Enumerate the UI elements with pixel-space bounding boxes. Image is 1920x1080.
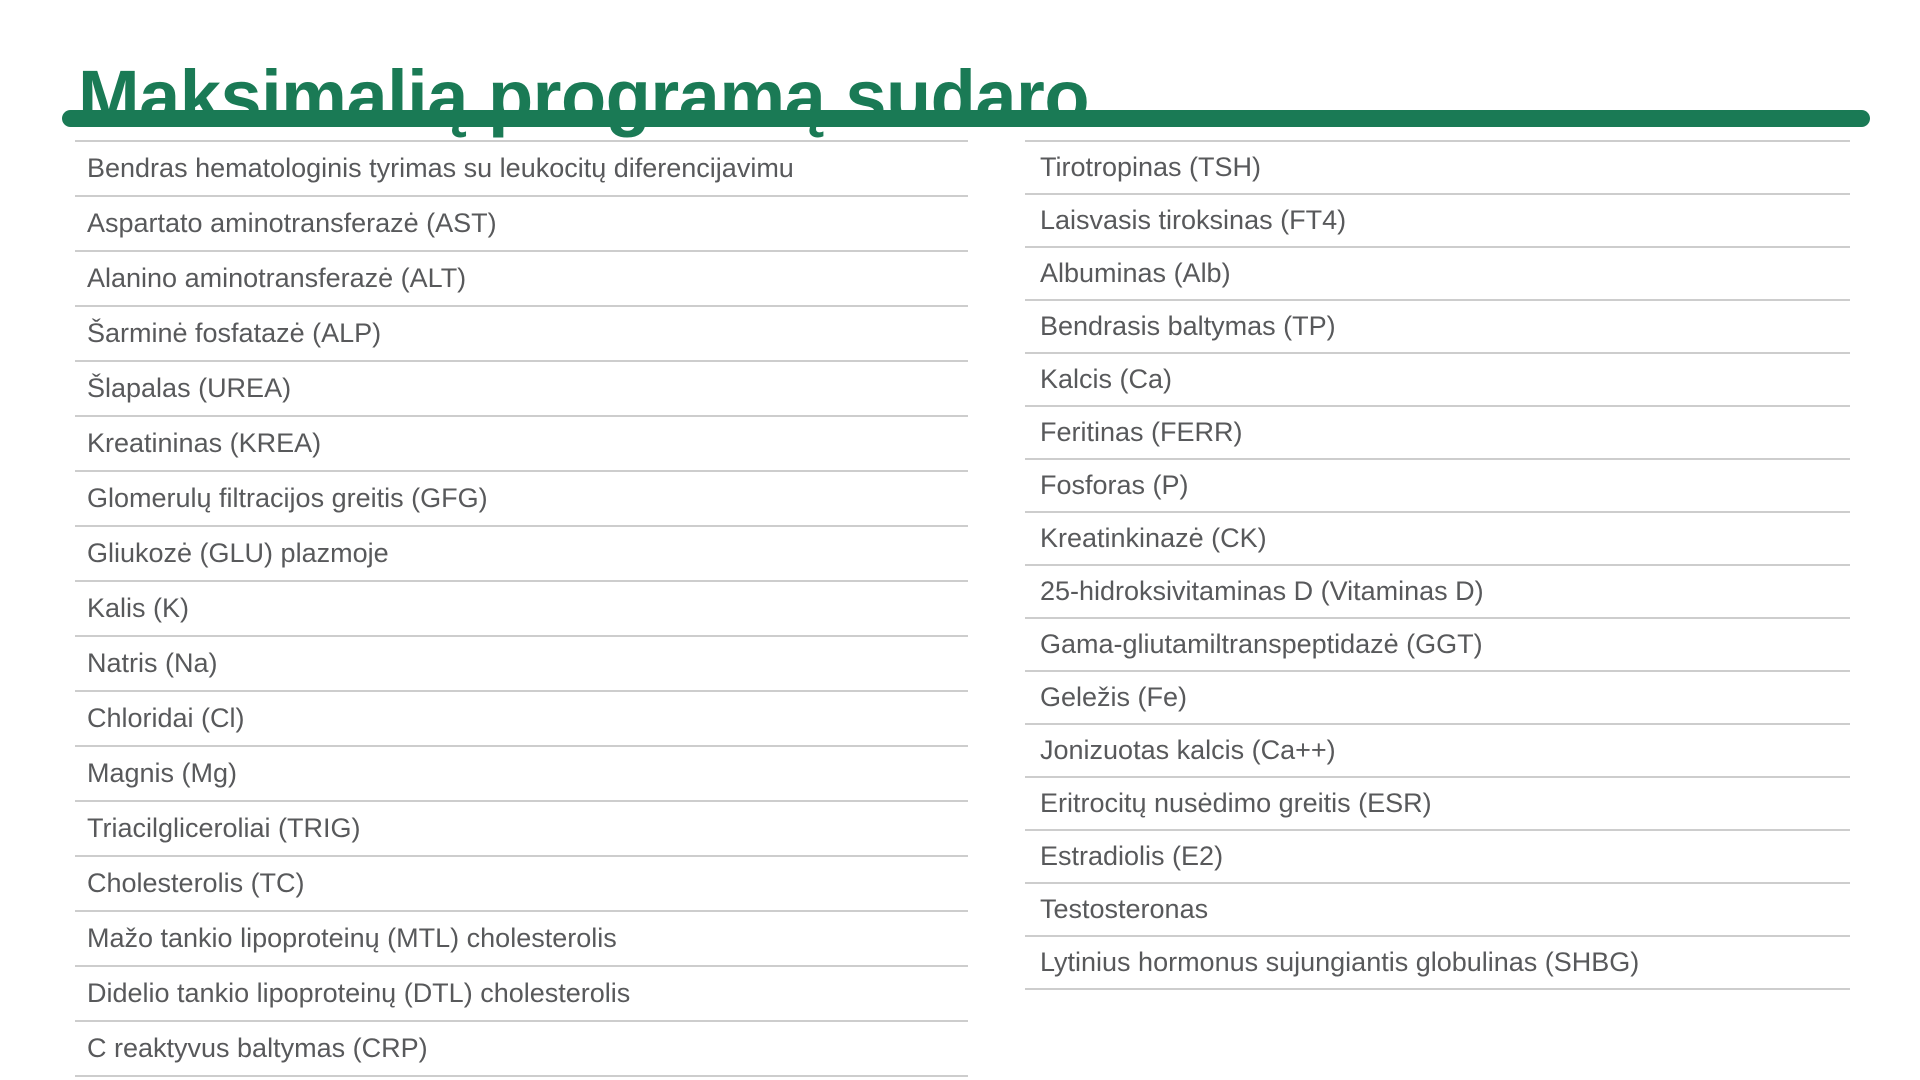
list-item: C reaktyvus baltymas (CRP) <box>75 1022 968 1077</box>
list-item: Mažo tankio lipoproteinų (MTL) cholester… <box>75 912 968 967</box>
list-item: Cholesterolis (TC) <box>75 857 968 912</box>
list-item-label: Jonizuotas kalcis (Ca++) <box>1040 735 1336 766</box>
list-item-label: Cholesterolis (TC) <box>87 868 305 899</box>
list-item: Tirotropinas (TSH) <box>1025 142 1850 195</box>
list-item-label: Chloridai (Cl) <box>87 703 245 734</box>
list-item-label: Mažo tankio lipoproteinų (MTL) cholester… <box>87 923 617 954</box>
list-item-label: Testosteronas <box>1040 894 1208 925</box>
list-item-label: Šlapalas (UREA) <box>87 373 291 404</box>
list-item: Laisvasis tiroksinas (FT4) <box>1025 195 1850 248</box>
right-column: Tirotropinas (TSH)Laisvasis tiroksinas (… <box>1025 140 1850 990</box>
list-item-label: Triacilgliceroliai (TRIG) <box>87 813 361 844</box>
title-underline-bar <box>62 110 1870 127</box>
list-item-label: Didelio tankio lipoproteinų (DTL) choles… <box>87 978 630 1009</box>
list-item-label: Tirotropinas (TSH) <box>1040 152 1261 183</box>
list-item: Kreatininas (KREA) <box>75 417 968 472</box>
list-item: Feritinas (FERR) <box>1025 407 1850 460</box>
list-item-label: Kalcis (Ca) <box>1040 364 1172 395</box>
list-item: Magnis (Mg) <box>75 747 968 802</box>
list-item-label: Eritrocitų nusėdimo greitis (ESR) <box>1040 788 1432 819</box>
list-item: Jonizuotas kalcis (Ca++) <box>1025 725 1850 778</box>
slide-root: Maksimalią programą sudaro Bendras hemat… <box>0 0 1920 1080</box>
list-item: Alanino aminotransferazė (ALT) <box>75 252 968 307</box>
list-item: Glomerulų filtracijos greitis (GFG) <box>75 472 968 527</box>
list-item-label: Fosforas (P) <box>1040 470 1189 501</box>
list-item-label: C reaktyvus baltymas (CRP) <box>87 1033 428 1064</box>
list-item: 25-hidroksivitaminas D (Vitaminas D) <box>1025 566 1850 619</box>
list-item: Didelio tankio lipoproteinų (DTL) choles… <box>75 967 968 1022</box>
list-item: Gliukozė (GLU) plazmoje <box>75 527 968 582</box>
list-item: Chloridai (Cl) <box>75 692 968 747</box>
list-item: Kalcis (Ca) <box>1025 354 1850 407</box>
list-item-label: Laisvasis tiroksinas (FT4) <box>1040 205 1346 236</box>
list-item: Šlapalas (UREA) <box>75 362 968 417</box>
list-item-label: Estradiolis (E2) <box>1040 841 1223 872</box>
list-item: Geležis (Fe) <box>1025 672 1850 725</box>
list-item-label: Geležis (Fe) <box>1040 682 1187 713</box>
list-item-label: Bendras hematologinis tyrimas su leukoci… <box>87 153 794 184</box>
list-item: Bendrasis baltymas (TP) <box>1025 301 1850 354</box>
list-item-label: Lytinius hormonus sujungiantis globulina… <box>1040 947 1639 978</box>
list-item: Fosforas (P) <box>1025 460 1850 513</box>
list-item-label: Natris (Na) <box>87 648 218 679</box>
list-item: Kalis (K) <box>75 582 968 637</box>
list-item: Natris (Na) <box>75 637 968 692</box>
list-item: Aspartato aminotransferazė (AST) <box>75 197 968 252</box>
right-column-list: Tirotropinas (TSH)Laisvasis tiroksinas (… <box>1025 140 1850 990</box>
list-item-label: Magnis (Mg) <box>87 758 237 789</box>
list-item: Kreatinkinazė (CK) <box>1025 513 1850 566</box>
list-item-label: Feritinas (FERR) <box>1040 417 1243 448</box>
list-item-label: Glomerulų filtracijos greitis (GFG) <box>87 483 488 514</box>
list-item: Albuminas (Alb) <box>1025 248 1850 301</box>
list-item-label: Albuminas (Alb) <box>1040 258 1231 289</box>
list-item: Bendras hematologinis tyrimas su leukoci… <box>75 142 968 197</box>
list-item-label: 25-hidroksivitaminas D (Vitaminas D) <box>1040 576 1484 607</box>
list-item-label: Bendrasis baltymas (TP) <box>1040 311 1336 342</box>
list-item-label: Gliukozė (GLU) plazmoje <box>87 538 389 569</box>
list-item: Triacilgliceroliai (TRIG) <box>75 802 968 857</box>
list-item-label: Gama-gliutamiltranspeptidazė (GGT) <box>1040 629 1483 660</box>
list-item-label: Kreatininas (KREA) <box>87 428 321 459</box>
list-item-label: Kalis (K) <box>87 593 189 624</box>
list-item-label: Alanino aminotransferazė (ALT) <box>87 263 466 294</box>
left-column-list: Bendras hematologinis tyrimas su leukoci… <box>75 140 968 1077</box>
list-item-label: Šarminė fosfatazė (ALP) <box>87 318 381 349</box>
list-item: Gama-gliutamiltranspeptidazė (GGT) <box>1025 619 1850 672</box>
list-item-label: Aspartato aminotransferazė (AST) <box>87 208 497 239</box>
list-item: Lytinius hormonus sujungiantis globulina… <box>1025 937 1850 990</box>
list-item: Estradiolis (E2) <box>1025 831 1850 884</box>
left-column: Bendras hematologinis tyrimas su leukoci… <box>75 140 968 1077</box>
list-item: Eritrocitų nusėdimo greitis (ESR) <box>1025 778 1850 831</box>
list-item: Šarminė fosfatazė (ALP) <box>75 307 968 362</box>
list-item-label: Kreatinkinazė (CK) <box>1040 523 1267 554</box>
list-item: Testosteronas <box>1025 884 1850 937</box>
